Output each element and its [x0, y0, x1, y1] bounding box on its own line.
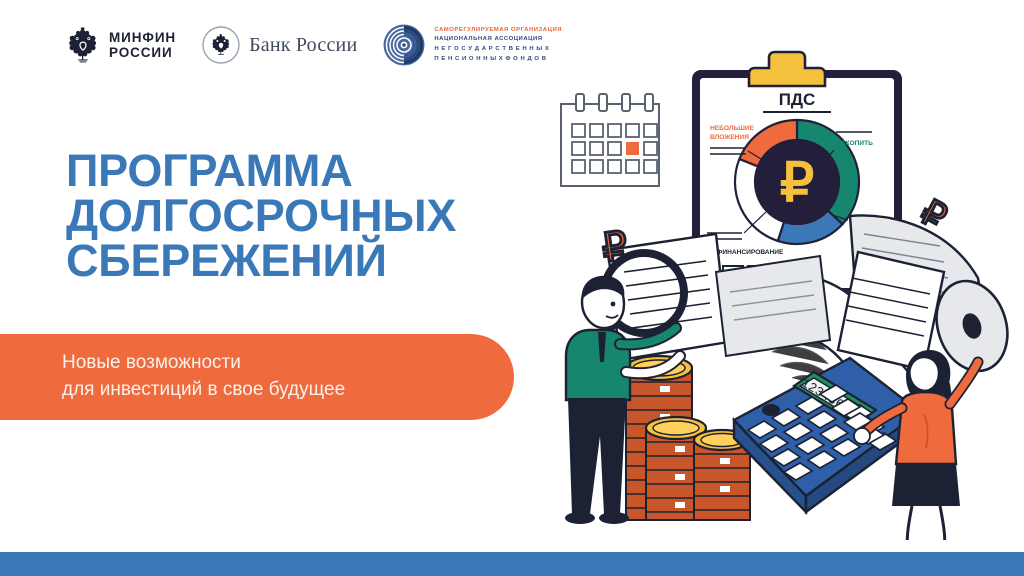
- calendar-highlight-day: [626, 142, 639, 155]
- minfin-label: МИНФИН РОССИИ: [109, 30, 176, 60]
- footer-bar: [0, 552, 1024, 576]
- spiral-target-icon: [383, 24, 425, 66]
- poster-canvas: МИНФИН РОССИИ Банк России: [0, 0, 1024, 576]
- clipboard-clip: [749, 52, 825, 86]
- page-title: ПРОГРАММА ДОЛГОСРОЧНЫХ СБЕРЕЖЕНИЙ: [66, 148, 456, 283]
- calendar-icon: [561, 94, 659, 186]
- illustration-svg: ПДС ₽ НЕБОЛЬШИЕ ВЛОЖЕНИЯ: [520, 20, 1024, 540]
- callout-label-accumulate: НАКОПИТЬ: [836, 140, 873, 147]
- ruble-symbol-center: ₽: [780, 153, 814, 213]
- callout-label-small-contributions: НЕБОЛЬШИЕ: [710, 125, 755, 132]
- board-title: ПДС: [779, 90, 816, 109]
- bank-of-russia-eagle-icon: [202, 26, 240, 64]
- double-headed-eagle-icon: [66, 26, 100, 64]
- subtitle-text: Новые возможности для инвестиций в свое …: [62, 350, 345, 404]
- coin-stacks: [626, 356, 750, 520]
- donut-chart: ₽: [735, 120, 859, 244]
- subtitle-banner: Новые возможности для инвестиций в свое …: [0, 334, 514, 420]
- illustration: ПДС ₽ НЕБОЛЬШИЕ ВЛОЖЕНИЯ: [520, 20, 1024, 540]
- paper-stack: [716, 256, 830, 356]
- logo-bank-rossii: Банк России: [202, 26, 357, 64]
- logo-row: МИНФИН РОССИИ Банк России: [66, 24, 562, 66]
- floating-ruble-left: ₽: [599, 224, 630, 271]
- bank-rossii-label: Банк России: [249, 34, 357, 56]
- svg-text:ВЛОЖЕНИЯ: ВЛОЖЕНИЯ: [710, 134, 749, 141]
- logo-minfin: МИНФИН РОССИИ: [66, 26, 176, 64]
- svg-text:₽: ₽: [599, 224, 630, 271]
